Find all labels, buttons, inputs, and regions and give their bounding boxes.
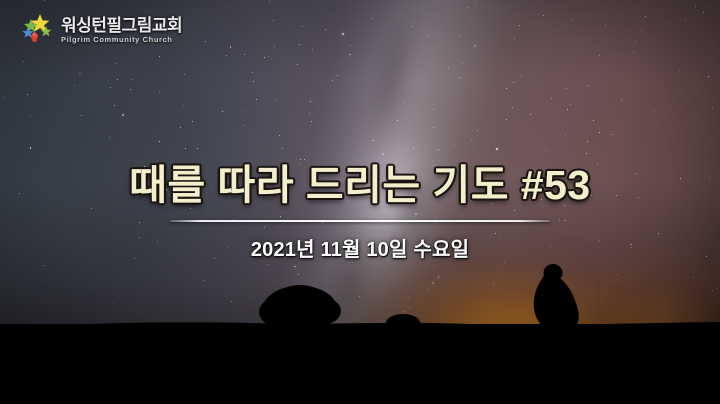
service-date: 2021년 11월 10일 수요일: [0, 233, 720, 262]
title-block: 때를 따라 드리는 기도 #53 2021년 11월 10일 수요일: [0, 163, 720, 262]
logo-english-name: Pilgrim Community Church: [61, 36, 182, 44]
multicolor-stars-logo-icon: [22, 13, 56, 47]
logo-text-block: 워싱턴필그림교회 Pilgrim Community Church: [61, 17, 182, 44]
title-divider: [170, 220, 550, 222]
ground-layer: [0, 304, 720, 404]
ground-fill: [0, 324, 720, 404]
church-logo[interactable]: 워싱턴필그림교회 Pilgrim Community Church: [22, 13, 182, 47]
title-slide: 워싱턴필그림교회 Pilgrim Community Church 때를 따라 …: [0, 0, 720, 404]
logo-korean-name: 워싱턴필그림교회: [61, 17, 182, 34]
sermon-title: 때를 따라 드리는 기도 #53: [0, 163, 720, 209]
